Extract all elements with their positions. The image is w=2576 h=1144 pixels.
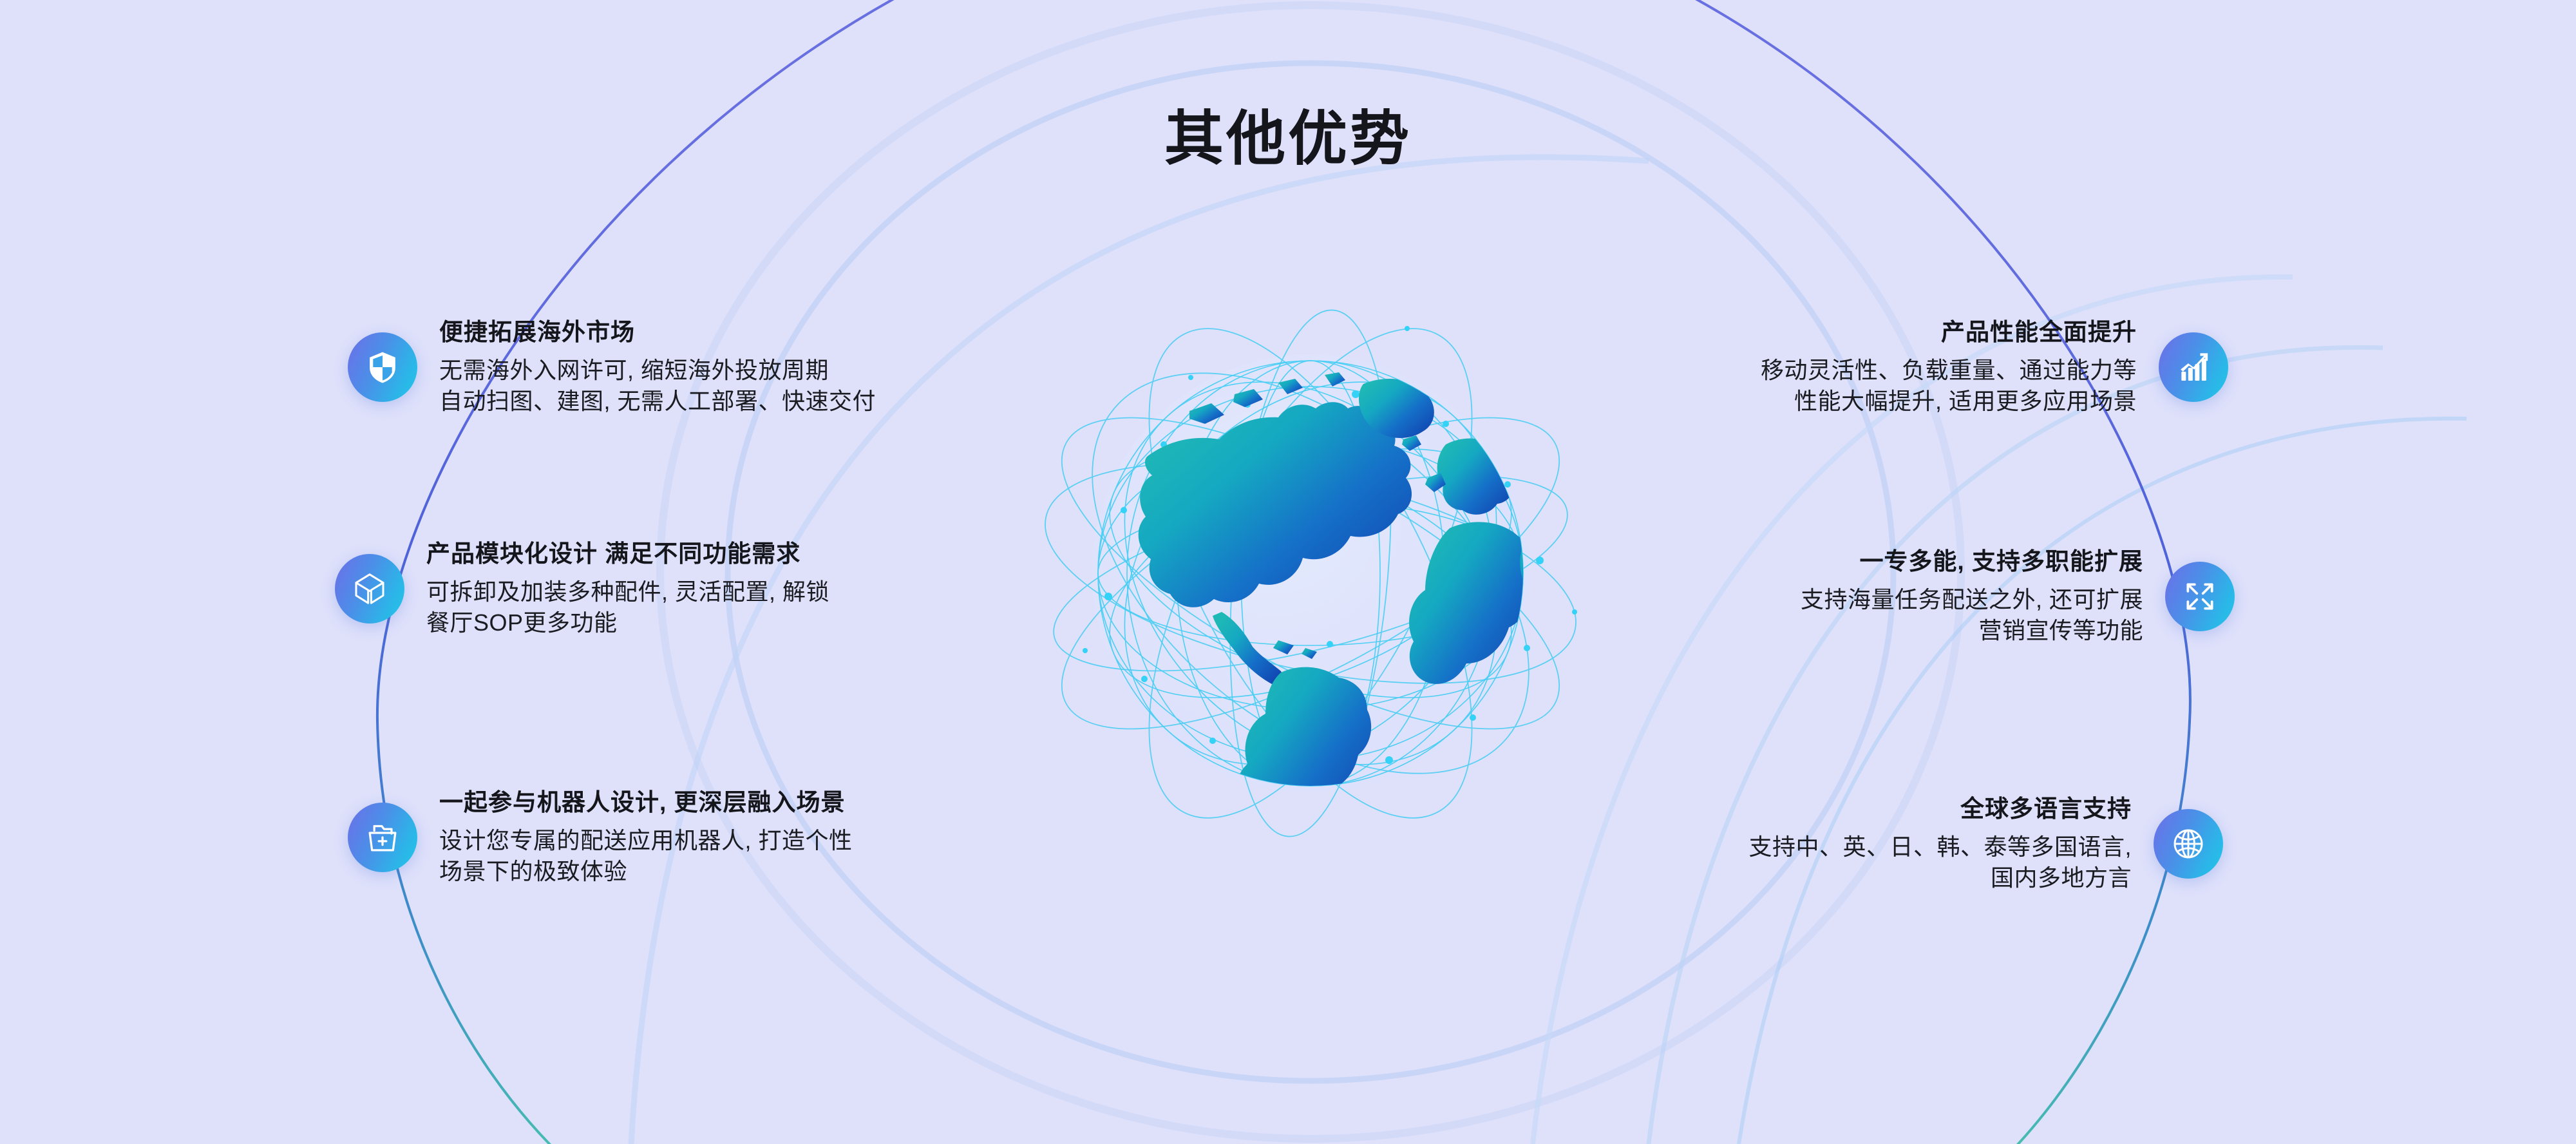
feature-text-right-0: 产品性能全面提升 移动灵活性、负载重量、通过能力等 性能大幅提升, 适用更多应用… (1761, 317, 2137, 417)
feature-item-right-1[interactable]: 一专多能, 支持多职能扩展 支持海量任务配送之外, 还可扩展 营销宣传等功能 (1801, 546, 2235, 646)
feature-item-left-2[interactable]: 一起参与机器人设计, 更深层融入场景 设计您专属的配送应用机器人, 打造个性 场… (348, 787, 853, 887)
feature-line: 支持中、英、日、韩、泰等多国语言, (1748, 832, 2132, 863)
feature-title: 一专多能, 支持多职能扩展 (1801, 546, 2143, 578)
feature-line: 场景下的极致体验 (439, 856, 853, 887)
feature-line: 无需海外入网许可, 缩短海外投放周期 (439, 355, 876, 386)
feature-text-right-1: 一专多能, 支持多职能扩展 支持海量任务配送之外, 还可扩展 营销宣传等功能 (1801, 546, 2143, 646)
page-title: 其他优势 (0, 110, 2576, 169)
feature-text-left-0: 便捷拓展海外市场 无需海外入网许可, 缩短海外投放周期 自动扫图、建图, 无需人… (439, 317, 876, 417)
feature-item-right-2[interactable]: 全球多语言支持 支持中、英、日、韩、泰等多国语言, 国内多地方言 (1748, 794, 2223, 893)
feature-title: 全球多语言支持 (1748, 794, 2132, 825)
feature-line: 可拆卸及加装多种配件, 灵活配置, 解锁 (426, 577, 829, 607)
feature-item-left-1[interactable]: 产品模块化设计 满足不同功能需求 可拆卸及加装多种配件, 灵活配置, 解锁 餐厅… (335, 539, 829, 638)
feature-text-right-2: 全球多语言支持 支持中、英、日、韩、泰等多国语言, 国内多地方言 (1748, 794, 2132, 893)
feature-item-left-0[interactable]: 便捷拓展海外市场 无需海外入网许可, 缩短海外投放周期 自动扫图、建图, 无需人… (348, 317, 876, 417)
feature-line: 餐厅SOP更多功能 (426, 607, 829, 638)
soft-arc-3 (1649, 347, 2383, 1144)
feature-text-left-1: 产品模块化设计 满足不同功能需求 可拆卸及加装多种配件, 灵活配置, 解锁 餐厅… (426, 539, 829, 638)
soft-arc-4 (1739, 419, 2467, 1144)
globe-network-illustration (995, 251, 1626, 895)
globe-svg (995, 251, 1626, 895)
feature-line: 营销宣传等功能 (1801, 615, 2143, 646)
feature-line: 自动扫图、建图, 无需人工部署、快速交付 (439, 386, 876, 417)
globe-icon (2154, 809, 2223, 879)
feature-line: 国内多地方言 (1748, 863, 2132, 893)
shield-icon (348, 332, 417, 402)
advantages-section: 其他优势 (0, 0, 2576, 1144)
feature-line: 性能大幅提升, 适用更多应用场景 (1761, 386, 2137, 417)
feature-title: 产品性能全面提升 (1761, 317, 2137, 348)
cube-icon (335, 554, 404, 624)
feature-line: 移动灵活性、负载重量、通过能力等 (1761, 355, 2137, 386)
feature-title: 一起参与机器人设计, 更深层融入场景 (439, 787, 853, 819)
feature-item-right-0[interactable]: 产品性能全面提升 移动灵活性、负载重量、通过能力等 性能大幅提升, 适用更多应用… (1761, 317, 2228, 417)
feature-title: 产品模块化设计 满足不同功能需求 (426, 539, 829, 570)
chart-growth-icon (2159, 332, 2228, 402)
feature-text-left-2: 一起参与机器人设计, 更深层融入场景 设计您专属的配送应用机器人, 打造个性 场… (439, 787, 853, 887)
feature-line: 支持海量任务配送之外, 还可扩展 (1801, 584, 2143, 615)
folder-plus-icon (348, 803, 417, 872)
feature-title: 便捷拓展海外市场 (439, 317, 876, 348)
feature-line: 设计您专属的配送应用机器人, 打造个性 (439, 825, 853, 856)
expand-arrows-icon (2165, 562, 2235, 631)
